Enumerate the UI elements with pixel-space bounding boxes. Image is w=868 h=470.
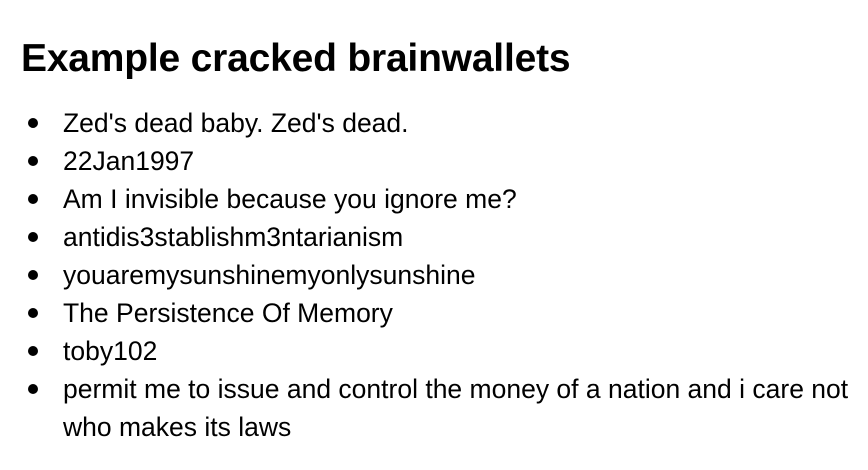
- bullet-point-icon: [28, 346, 38, 356]
- list-item-label: antidis3stablishm3ntarianism: [63, 218, 857, 256]
- list-item-label: permit me to issue and control the money…: [63, 370, 857, 446]
- list-item: Am I invisible because you ignore me?: [21, 180, 857, 218]
- list-item: antidis3stablishm3ntarianism: [21, 218, 857, 256]
- slide-title: Example cracked brainwallets: [21, 36, 847, 82]
- list-item-label: 22Jan1997: [63, 142, 857, 180]
- bullet-point-icon: [28, 270, 38, 280]
- list-item-label: toby102: [63, 332, 857, 370]
- bullet-point-icon: [28, 156, 38, 166]
- list-item-label: The Persistence Of Memory: [63, 294, 857, 332]
- brainwallet-bullet-list: Zed's dead baby. Zed's dead. 22Jan1997 A…: [21, 104, 857, 446]
- list-item: permit me to issue and control the money…: [21, 370, 857, 446]
- list-item-label: Am I invisible because you ignore me?: [63, 180, 857, 218]
- list-item: toby102: [21, 332, 857, 370]
- bullet-point-icon: [28, 194, 38, 204]
- bullet-point-icon: [28, 232, 38, 242]
- list-item: The Persistence Of Memory: [21, 294, 857, 332]
- presentation-slide: Example cracked brainwallets Zed's dead …: [0, 0, 868, 470]
- list-item: Zed's dead baby. Zed's dead.: [21, 104, 857, 142]
- list-item: 22Jan1997: [21, 142, 857, 180]
- bullet-point-icon: [28, 118, 38, 128]
- list-item: youaremysunshinemyonlysunshine: [21, 256, 857, 294]
- bullet-point-icon: [28, 308, 38, 318]
- list-item-label: Zed's dead baby. Zed's dead.: [63, 104, 857, 142]
- bullet-point-icon: [28, 384, 38, 394]
- list-item-label: youaremysunshinemyonlysunshine: [63, 256, 857, 294]
